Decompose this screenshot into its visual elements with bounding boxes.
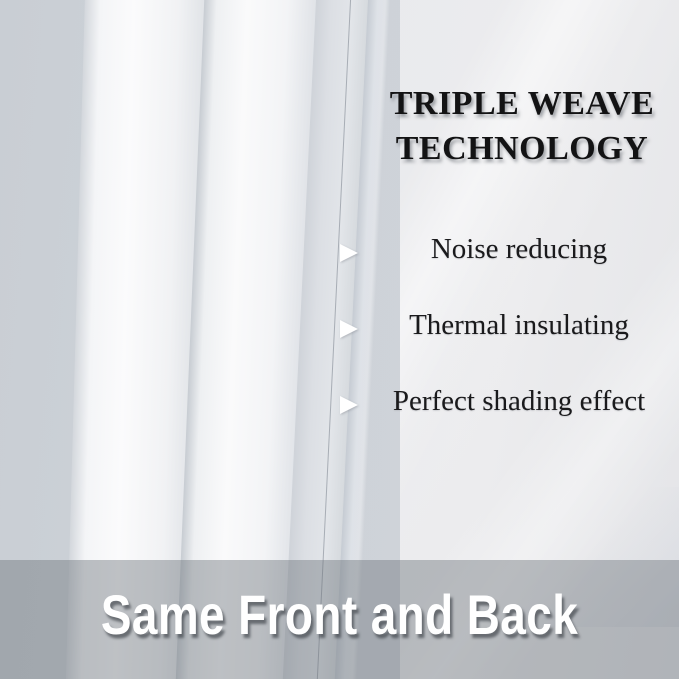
feature-label: Perfect shading effect bbox=[368, 384, 670, 418]
feature-item-thermal-insulating: Thermal insulating bbox=[330, 308, 670, 384]
product-feature-image: TRIPLE WEAVE TECHNOLOGY Noise reducing T… bbox=[0, 0, 679, 679]
feature-label: Noise reducing bbox=[368, 232, 670, 266]
bottom-banner: Same Front and Back bbox=[0, 560, 679, 679]
feature-label: Thermal insulating bbox=[368, 308, 670, 342]
headline-line-1: TRIPLE WEAVE bbox=[374, 82, 670, 127]
banner-headline: Same Front and Back bbox=[61, 586, 618, 644]
headline: TRIPLE WEAVE TECHNOLOGY bbox=[374, 82, 670, 172]
feature-item-perfect-shading-effect: Perfect shading effect bbox=[330, 384, 670, 460]
feature-item-noise-reducing: Noise reducing bbox=[330, 232, 670, 308]
headline-line-2: TECHNOLOGY bbox=[374, 127, 670, 172]
triangle-right-icon bbox=[340, 320, 358, 338]
triangle-right-icon bbox=[340, 244, 358, 262]
triangle-right-icon bbox=[340, 396, 358, 414]
feature-list: Noise reducing Thermal insulating Perfec… bbox=[330, 232, 670, 460]
